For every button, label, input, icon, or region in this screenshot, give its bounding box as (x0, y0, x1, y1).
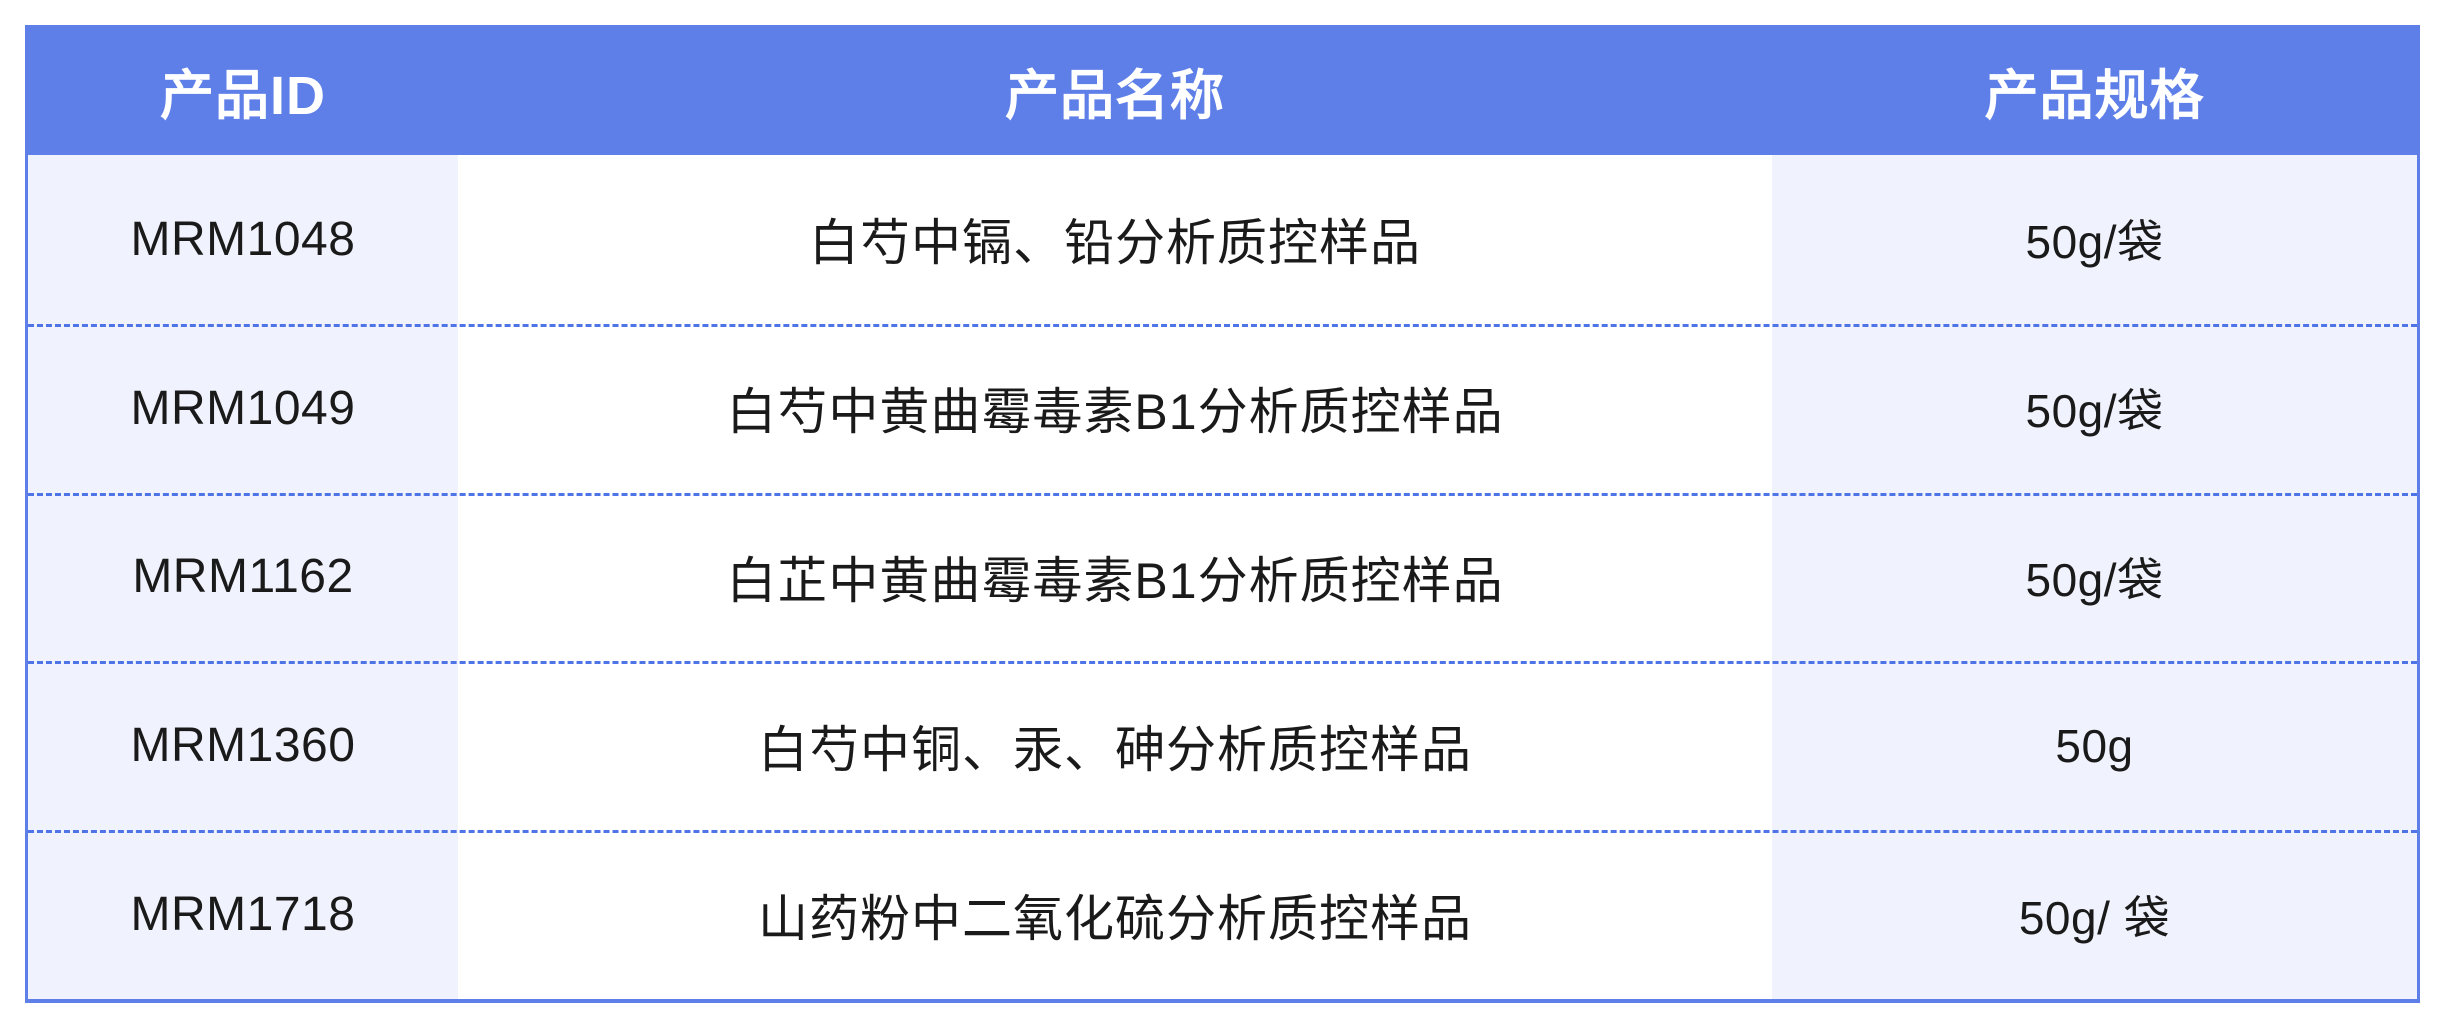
table-row: MRM1162 白芷中黄曲霉毒素B1分析质控样品 50g/袋 (28, 493, 2417, 662)
cell-product-spec: 50g/袋 (1772, 155, 2417, 324)
cell-product-spec: 50g/ 袋 (1772, 830, 2417, 999)
table-row: MRM1048 白芍中镉、铅分析质控样品 50g/袋 (28, 155, 2417, 324)
column-header-product-name: 产品名称 (458, 25, 1772, 155)
column-header-product-id: 产品ID (28, 25, 458, 155)
cell-product-id: MRM1162 (28, 493, 458, 662)
cell-product-id: MRM1360 (28, 661, 458, 830)
column-header-product-spec: 产品规格 (1772, 25, 2417, 155)
cell-product-name: 白芍中镉、铅分析质控样品 (458, 155, 1772, 324)
cell-product-spec: 50g/袋 (1772, 324, 2417, 493)
product-table: 产品ID 产品名称 产品规格 MRM1048 白芍中镉、铅分析质控样品 50g/… (25, 25, 2420, 1003)
table-row: MRM1049 白芍中黄曲霉毒素B1分析质控样品 50g/袋 (28, 324, 2417, 493)
table-row: MRM1718 山药粉中二氧化硫分析质控样品 50g/ 袋 (28, 830, 2417, 999)
cell-product-name: 山药粉中二氧化硫分析质控样品 (458, 830, 1772, 999)
table-header-row: 产品ID 产品名称 产品规格 (28, 25, 2417, 155)
cell-product-spec: 50g/袋 (1772, 493, 2417, 662)
cell-product-id: MRM1049 (28, 324, 458, 493)
page-root: 产品ID 产品名称 产品规格 MRM1048 白芍中镉、铅分析质控样品 50g/… (0, 0, 2447, 1033)
cell-product-name: 白芍中黄曲霉毒素B1分析质控样品 (458, 324, 1772, 493)
cell-product-name: 白芍中铜、汞、砷分析质控样品 (458, 661, 1772, 830)
cell-product-id: MRM1718 (28, 830, 458, 999)
cell-product-spec: 50g (1772, 661, 2417, 830)
cell-product-id: MRM1048 (28, 155, 458, 324)
table-body: MRM1048 白芍中镉、铅分析质控样品 50g/袋 MRM1049 白芍中黄曲… (28, 155, 2417, 999)
table-row: MRM1360 白芍中铜、汞、砷分析质控样品 50g (28, 661, 2417, 830)
cell-product-name: 白芷中黄曲霉毒素B1分析质控样品 (458, 493, 1772, 662)
